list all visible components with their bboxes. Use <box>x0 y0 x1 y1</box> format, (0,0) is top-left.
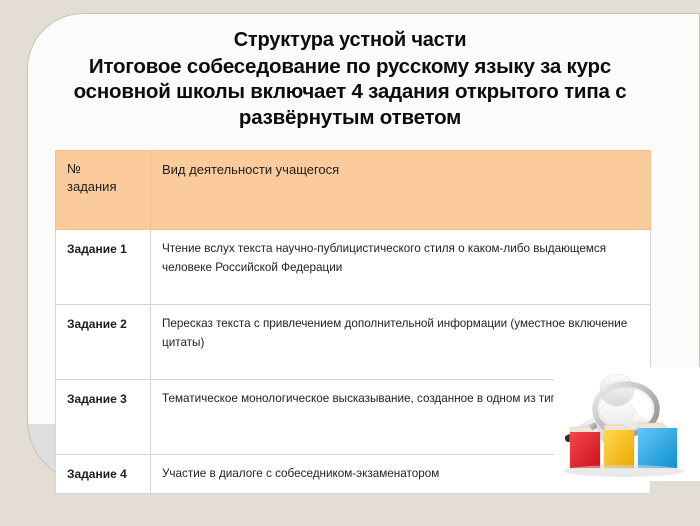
task-number-cell: Задание 2 <box>56 305 151 380</box>
table-header-row: № задания Вид деятельности учащегося <box>56 151 651 230</box>
page-title: Структура устной части Итоговое собеседо… <box>0 28 700 130</box>
folders-group <box>564 423 684 477</box>
task-description-cell: Чтение вслух текста научно-публицистичес… <box>151 230 651 305</box>
folder-red <box>570 427 600 468</box>
task-number-cell: Задание 4 <box>56 455 151 494</box>
illustration-person-with-magnifier-and-folders <box>554 367 700 481</box>
task-number-cell: Задание 1 <box>56 230 151 305</box>
task-number-cell: Задание 3 <box>56 380 151 455</box>
title-line-1: Структура устной части <box>0 28 700 54</box>
table-row: Задание 1 Чтение вслух текста научно-пуб… <box>56 230 651 305</box>
title-line-4: развёрнутым ответом <box>0 105 700 131</box>
column-header-activity: Вид деятельности учащегося <box>151 151 651 230</box>
title-line-2: Итоговое собеседование по русскому языку… <box>0 54 700 80</box>
column-header-line-1: № <box>67 161 81 176</box>
column-header-line-2: задания <box>67 179 117 194</box>
folder-yellow <box>604 425 634 468</box>
title-line-3: основной школы включает 4 задания открыт… <box>0 79 700 105</box>
magnifier-folders-icon <box>554 367 700 481</box>
folder-blue <box>638 423 677 468</box>
column-header-task-number: № задания <box>56 151 151 230</box>
